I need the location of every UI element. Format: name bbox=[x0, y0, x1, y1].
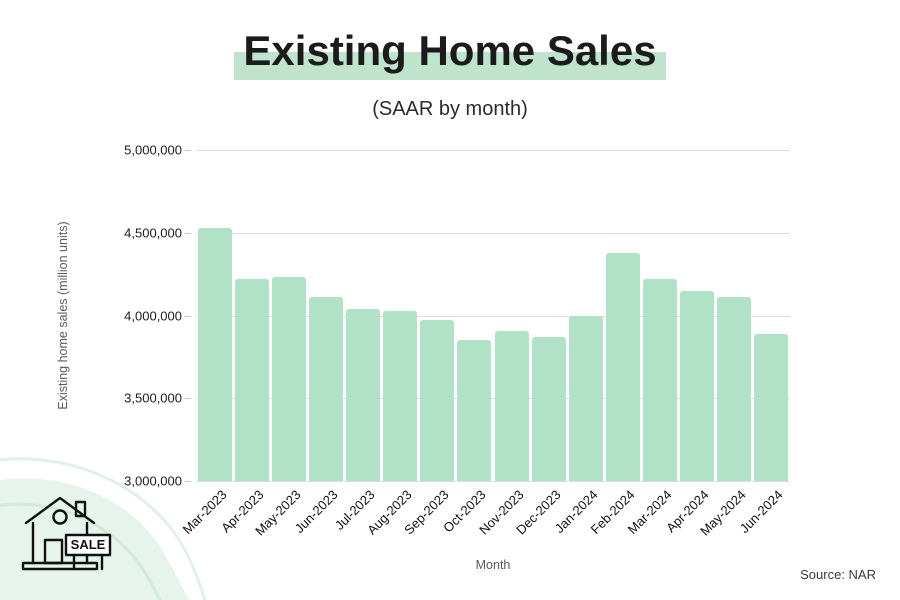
y-tick-label: 5,000,000 bbox=[124, 143, 182, 158]
bar[interactable] bbox=[569, 316, 603, 481]
title-block: Existing Home Sales bbox=[0, 24, 900, 78]
chart-subtitle: (SAAR by month) bbox=[0, 98, 900, 121]
y-tick-mark bbox=[184, 150, 191, 151]
bar[interactable] bbox=[754, 334, 788, 481]
y-tick-mark bbox=[184, 398, 191, 399]
bar[interactable] bbox=[346, 309, 380, 481]
plot-area bbox=[196, 150, 790, 481]
bar-series bbox=[196, 150, 790, 481]
house-icon-svg: SALE bbox=[18, 490, 118, 575]
bar[interactable] bbox=[717, 297, 751, 481]
bar[interactable] bbox=[457, 340, 491, 481]
bar[interactable] bbox=[680, 291, 714, 481]
y-axis-ticks: 3,000,0003,500,0004,000,0004,500,0005,00… bbox=[96, 150, 182, 481]
house-for-sale-icon: SALE bbox=[18, 490, 118, 575]
bar[interactable] bbox=[420, 320, 454, 481]
y-tick-label: 3,000,000 bbox=[124, 474, 182, 489]
x-axis-label: Month bbox=[196, 558, 790, 572]
page-title: Existing Home Sales bbox=[243, 24, 656, 78]
bar[interactable] bbox=[383, 311, 417, 481]
y-tick-label: 3,500,000 bbox=[124, 391, 182, 406]
bar[interactable] bbox=[532, 337, 566, 481]
y-tick-mark bbox=[184, 481, 191, 482]
source-note: Source: NAR bbox=[800, 567, 876, 582]
bar[interactable] bbox=[198, 228, 232, 481]
y-tick-mark bbox=[184, 233, 191, 234]
bar[interactable] bbox=[606, 253, 640, 481]
chart-canvas: SALE Existing Home Sales (SAAR by month)… bbox=[0, 0, 900, 600]
bar[interactable] bbox=[495, 331, 529, 481]
y-tick-label: 4,000,000 bbox=[124, 308, 182, 323]
y-axis-label: Existing home sales (million units) bbox=[56, 150, 78, 481]
x-axis-ticks: Mar-2023Apr-2023May-2023Jun-2023Jul-2023… bbox=[196, 481, 790, 561]
y-tick-mark bbox=[184, 316, 191, 317]
bar[interactable] bbox=[272, 277, 306, 481]
bar[interactable] bbox=[309, 297, 343, 481]
bar[interactable] bbox=[235, 279, 269, 481]
bar[interactable] bbox=[643, 279, 677, 481]
y-tick-label: 4,500,000 bbox=[124, 225, 182, 240]
sale-sign-text: SALE bbox=[71, 537, 106, 552]
